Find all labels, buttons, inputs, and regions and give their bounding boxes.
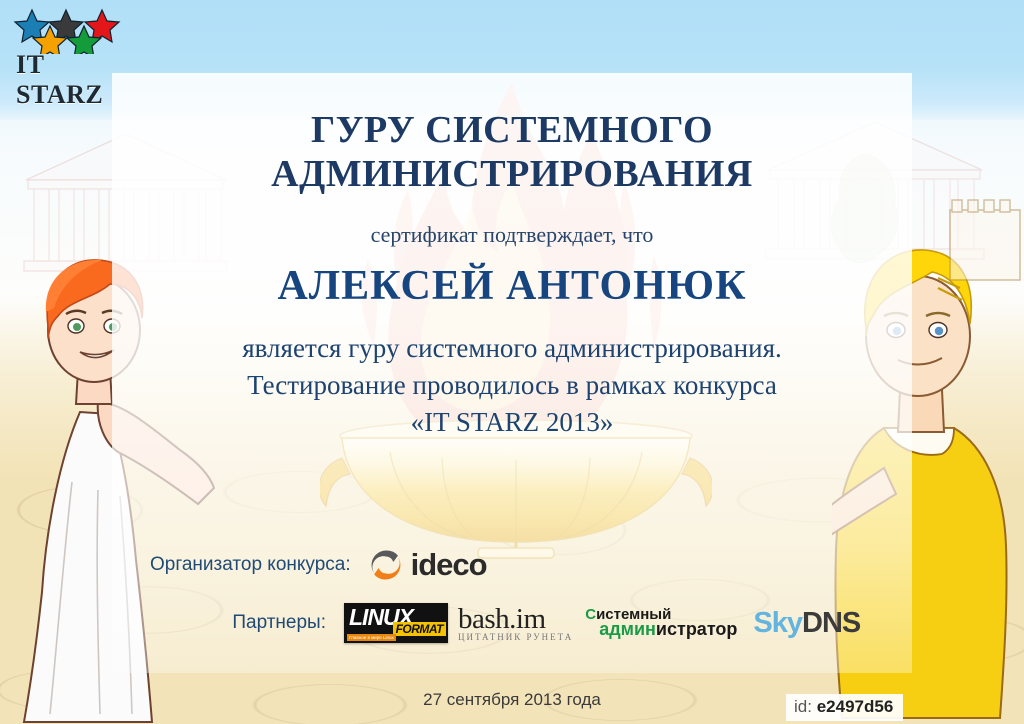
page-title: ГУРУ СИСТЕМНОГО АДМИНИСТРИРОВАНИЯ [112, 108, 912, 196]
sysadmin-l2-b: истратор [656, 619, 737, 639]
certificate-id-label: id: [794, 697, 812, 716]
organizer-label: Организатор конкурса: [150, 554, 351, 576]
title-line-2: АДМИНИСТРИРОВАНИЯ [112, 152, 912, 196]
recipient-name: АЛЕКСЕЙ АНТОНЮК [112, 262, 912, 310]
ideco-swirl-icon [369, 548, 403, 582]
bash-im-sub: ЦИТАТНИК РУНЕТА [458, 633, 573, 642]
certificate-date: 27 сентября 2013 года [312, 690, 712, 710]
sysadmin-l1-a: С [585, 606, 596, 623]
partners-row: Партнеры: LINUX FORMAT Главное в мире Li… [150, 600, 940, 646]
sysadmin-line-2: администратор [599, 620, 737, 638]
ideco-logo: ideco [369, 547, 487, 583]
bash-im-main: bash.im [458, 605, 573, 634]
sistemniy-administrator-logo: Системный администратор [585, 607, 737, 639]
organizer-row: Организатор конкурса: ideco [150, 544, 750, 586]
body-line-3: «IT STARZ 2013» [112, 404, 912, 441]
title-line-1: ГУРУ СИСТЕМНОГО [112, 108, 912, 152]
linux-format-tagline: Главное в мире Linux [347, 634, 396, 641]
linux-format-sub: FORMAT [393, 622, 446, 636]
skydns-sky: Sky [753, 607, 802, 639]
certificate-id: id: e2497d56 [786, 694, 903, 721]
certificate-content: ГУРУ СИСТЕМНОГО АДМИНИСТРИРОВАНИЯ сертиф… [0, 0, 1024, 724]
partners-label: Партнеры: [150, 612, 344, 634]
bash-im-logo: bash.im ЦИТАТНИК РУНЕТА [458, 605, 573, 642]
body-line-1: является гуру системного администрирован… [112, 330, 912, 367]
skydns-dns: DNS [802, 607, 860, 639]
sysadmin-l2-a: админ [599, 619, 656, 639]
confirmation-text: сертификат подтверждает, что [112, 222, 912, 248]
body-line-2: Тестирование проводилось в рамках конкур… [112, 367, 912, 404]
certificate-body: является гуру системного администрирован… [112, 330, 912, 441]
certificate-id-value: e2497d56 [817, 697, 894, 716]
skydns-logo: SkyDNS [753, 607, 860, 640]
certificate-canvas: IT STARZ ГУРУ СИСТЕМНОГО АДМИНИСТРИРОВАН… [0, 0, 1024, 724]
linux-format-logo: LINUX FORMAT Главное в мире Linux [344, 603, 448, 643]
ideco-wordmark: ideco [411, 547, 487, 583]
